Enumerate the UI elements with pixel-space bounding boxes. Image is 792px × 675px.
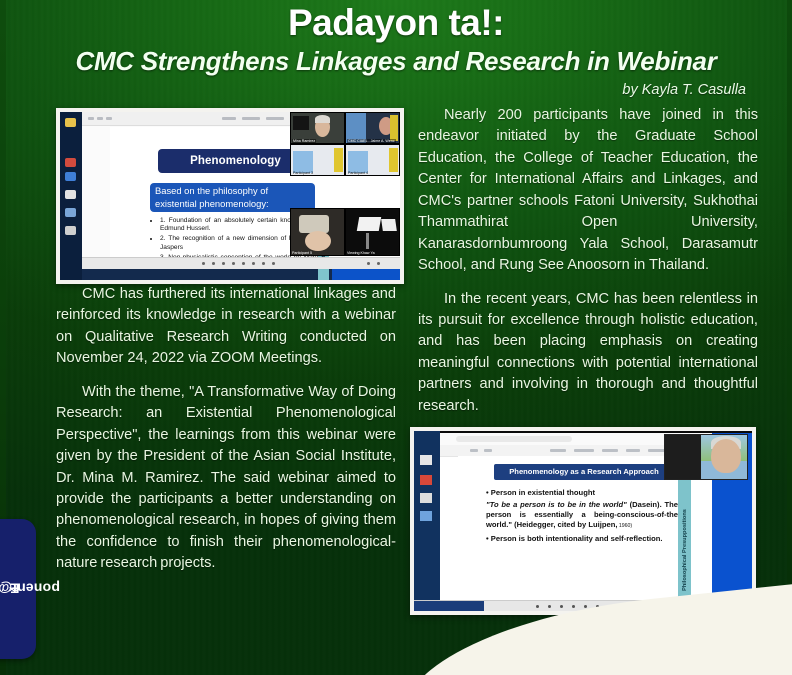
slide-title-text-2: Phenomenology as a Research Approach	[494, 464, 674, 480]
paragraph: In the recent years, CMC has been relent…	[418, 289, 758, 418]
slide-quote: "To be a person is to be in the world" (…	[486, 500, 678, 531]
participant-name: Participant 5	[292, 251, 312, 255]
participant-name: Participant 4	[347, 171, 369, 175]
taskbar-start-button[interactable]	[414, 601, 484, 611]
participant-tile[interactable]: Participant 5	[290, 208, 345, 256]
webinar-screenshot-2: Phenomenology as a Research Approach • P…	[410, 427, 756, 615]
slide-subtitle-text: Based on the philosophy of existential p…	[155, 185, 310, 210]
participant-name: Participant 3	[292, 171, 314, 175]
presenter-video-tile[interactable]	[664, 434, 748, 480]
author-byline: by Kayla T. Casulla	[622, 82, 746, 98]
zoom-participant-grid: Mina Ramirez CMC CIAEL - Jaime A. Wenc P…	[290, 112, 400, 208]
paragraph: With the theme, "A Transformative Way of…	[56, 382, 396, 575]
participant-tile[interactable]: CMC CIAEL - Jaime A. Wenc	[345, 112, 400, 144]
page-subtitle: CMC Strengthens Linkages and Research in…	[0, 47, 792, 76]
page-right-edge	[787, 0, 792, 675]
participant-name: Viewing Khaw Ya	[347, 251, 375, 255]
slide-body-2: • Person in existential thought "To be a…	[486, 488, 678, 546]
article-left-column: CMC has furthered its international link…	[56, 284, 396, 587]
participant-name: CMC CIAEL - Jaime A. Wenc	[347, 139, 396, 143]
sidebar-tab-exponent-at-five[interactable]: Exponent@Five	[0, 519, 36, 659]
participant-tile[interactable]: Participant 3	[290, 144, 345, 176]
zoom-participant-grid-row2: Participant 5 Viewing Khaw Ya	[290, 208, 400, 256]
newsletter-page: Padayon ta!: CMC Strengthens Linkages an…	[0, 0, 792, 675]
page-title: Padayon ta!:	[0, 4, 792, 43]
sidebar-tab-label: Exponent@Five	[7, 586, 24, 591]
slide-bullet-a: • Person in existential thought	[486, 488, 678, 498]
participant-tile[interactable]: Participant 4	[345, 144, 400, 176]
paragraph: CMC has furthered its international link…	[56, 284, 396, 370]
taskbar	[82, 257, 400, 269]
participant-tile[interactable]: Mina Ramirez	[290, 112, 345, 144]
paragraph: Nearly 200 participants have joined in t…	[418, 105, 758, 277]
slide-side-tab-2: Philosophical Presuppositions	[678, 480, 691, 611]
slide-title-box-2: Phenomenology as a Research Approach	[494, 464, 674, 480]
webinar-screenshot-1: Phenomenology Based on the philosophy of…	[56, 108, 404, 284]
article-right-column: Nearly 200 participants have joined in t…	[418, 105, 758, 429]
participant-tile[interactable]: Viewing Khaw Ya	[345, 208, 400, 256]
desktop-taskbar-strip-2	[414, 431, 440, 611]
participant-name: Mina Ramirez	[292, 139, 316, 143]
slide-bullet-b: • Person is both intentionality and self…	[486, 534, 678, 544]
desktop-taskbar-strip	[60, 112, 82, 280]
article-header: Padayon ta!: CMC Strengthens Linkages an…	[0, 0, 792, 75]
